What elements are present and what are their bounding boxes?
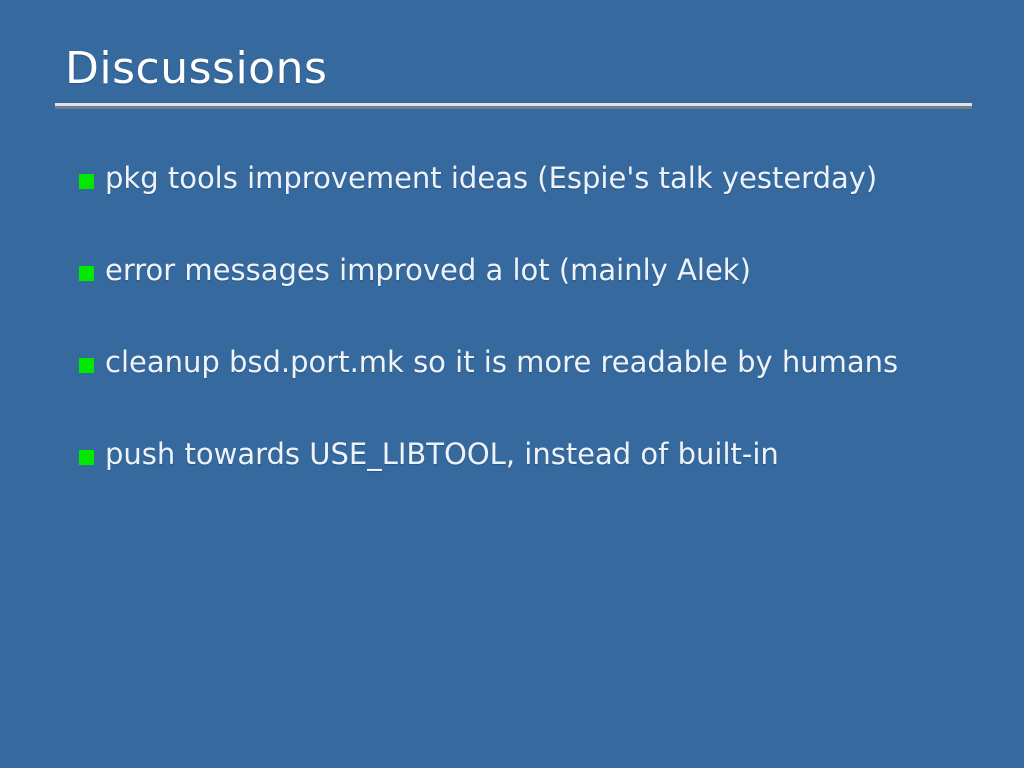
bullet-item-label: pkg tools improvement ideas (Espie's tal… [105, 158, 877, 198]
title-underline-rule [55, 103, 972, 109]
bullet-item-label: push towards USE_LIBTOOL, instead of bui… [105, 434, 779, 474]
list-item: error messages improved a lot (mainly Al… [79, 250, 989, 342]
list-item: cleanup bsd.port.mk so it is more readab… [79, 342, 989, 434]
green-square-bullet-icon [79, 358, 94, 373]
green-square-bullet-icon [79, 450, 94, 465]
presentation-slide: Discussions pkg tools improvement ideas … [0, 0, 1024, 768]
green-square-bullet-icon [79, 174, 94, 189]
page-title: Discussions [55, 42, 972, 96]
bullet-list: pkg tools improvement ideas (Espie's tal… [79, 158, 989, 526]
green-square-bullet-icon [79, 266, 94, 281]
bullet-item-label: cleanup bsd.port.mk so it is more readab… [105, 342, 898, 382]
list-item: push towards USE_LIBTOOL, instead of bui… [79, 434, 989, 526]
slide-title-block: Discussions [55, 42, 972, 96]
list-item: pkg tools improvement ideas (Espie's tal… [79, 158, 989, 250]
bullet-item-label: error messages improved a lot (mainly Al… [105, 250, 751, 290]
